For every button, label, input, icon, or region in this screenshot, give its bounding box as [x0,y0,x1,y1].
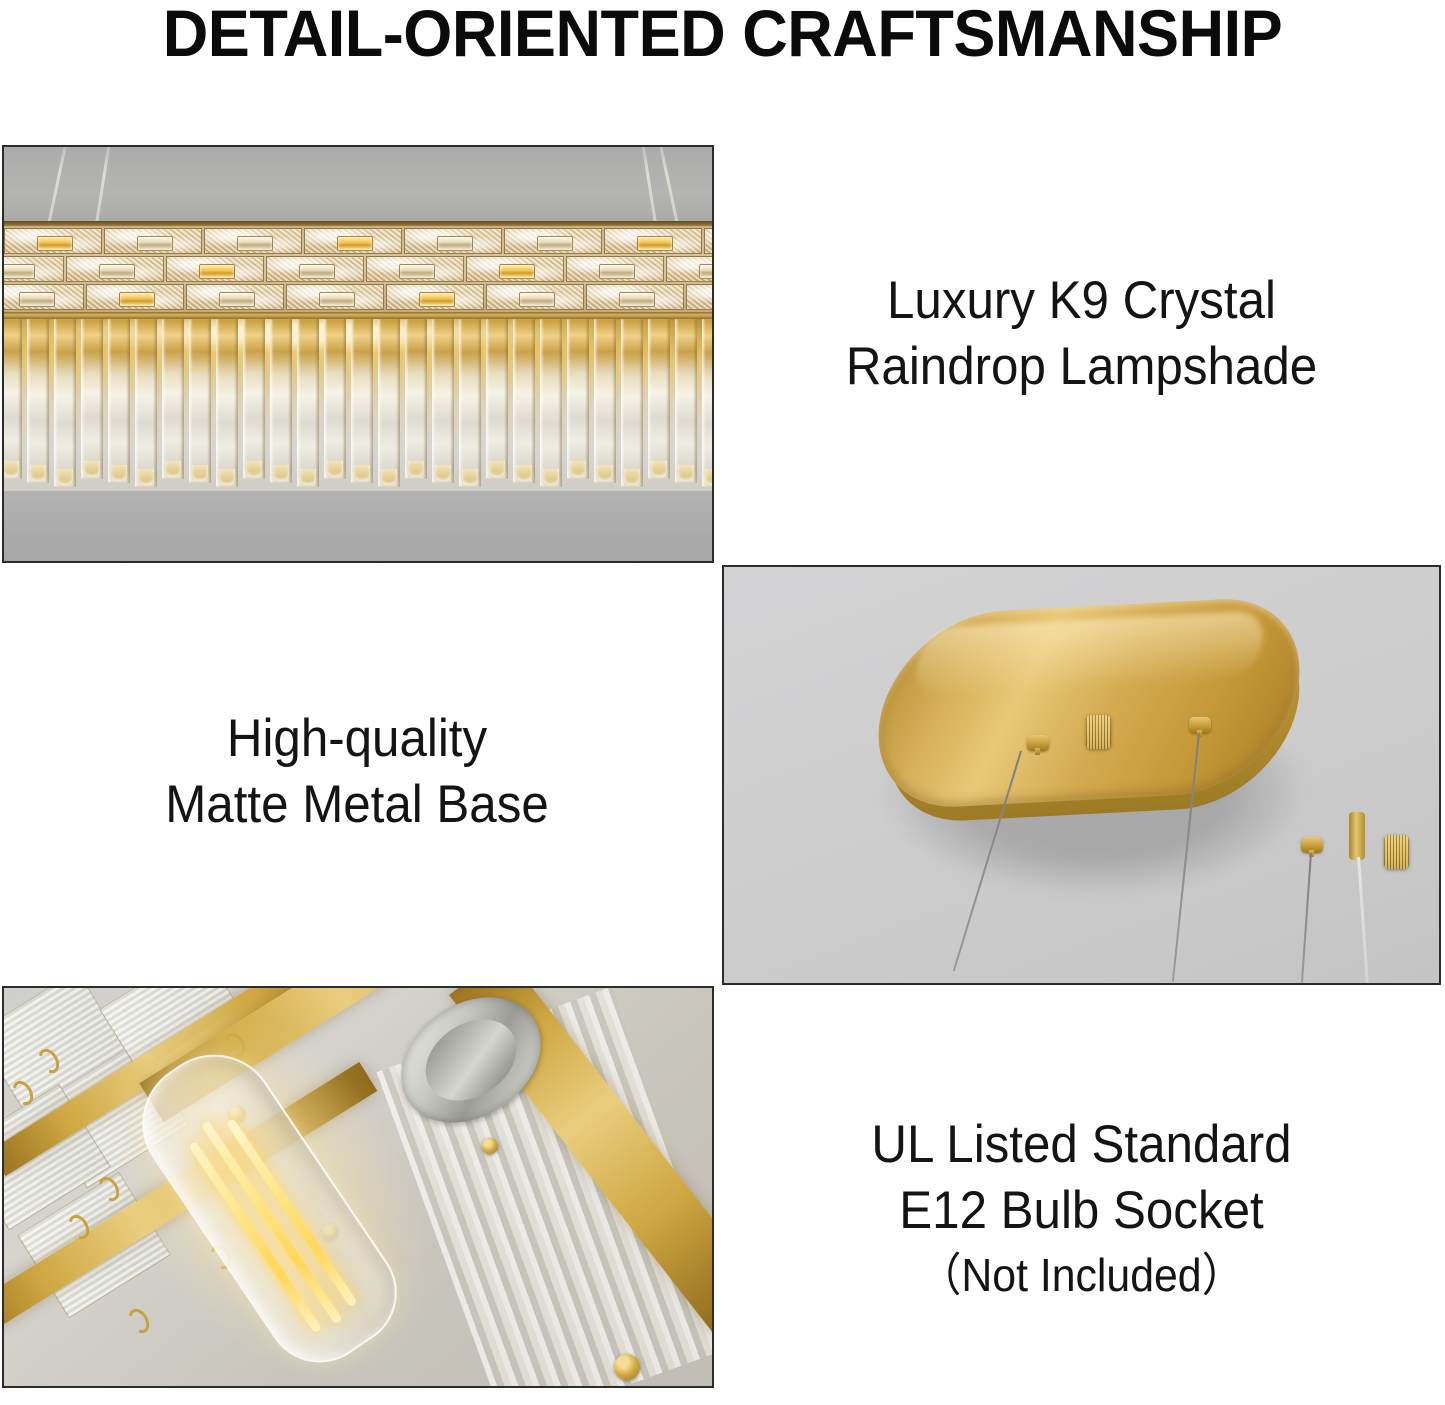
crystal-raindrop-rod [189,319,211,483]
crystal-brick [86,284,184,310]
crystal-brick [466,256,564,282]
crystal-brick-row [4,255,712,283]
caption-line: E12 Bulb Socket [747,1178,1416,1244]
crystal-raindrop-rod [702,319,714,487]
crystal-raindrop-rod [378,319,400,487]
crystal-brick [266,256,364,282]
crystal-raindrop-rod [108,319,130,483]
mounting-screw [614,1354,640,1380]
crystal-raindrop-rod [27,319,49,483]
crystal-brick [666,256,714,282]
crystal-raindrop-rod [594,319,616,483]
gold-canopy-photo [722,565,1441,985]
crystal-raindrop-rod [270,319,292,483]
crystal-raindrop-rod [81,319,103,479]
crystal-brick [2,256,64,282]
caption-metal-base: High-quality Matte Metal Base [25,706,689,838]
crystal-brick [404,228,502,254]
crystal-gem [699,264,714,279]
bulb-socket-photo [2,986,714,1388]
crystal-brick [704,228,714,254]
crystal-gem [137,236,173,251]
crystal-brick-row [4,283,712,311]
crystal-brick [286,284,384,310]
knurled-nut [1086,715,1111,749]
caption-note: （Not Included） [747,1244,1416,1306]
caption-crystal-lampshade: Luxury K9 Crystal Raindrop Lampshade [747,268,1416,400]
crystal-raindrop-rod [540,319,562,487]
crystal-raindrop-rod [459,319,481,487]
crystal-gem [419,292,455,307]
crystal-gem [319,292,355,307]
crystal-raindrop-rod [675,319,697,483]
crystal-gem [437,236,473,251]
crystal-brick [204,228,302,254]
crystal-gem [237,236,273,251]
cable-fitting [1027,735,1049,751]
crystal-raindrop-rod [324,319,346,479]
crystal-brick [504,228,602,254]
crystal-brick [686,284,714,310]
crystal-raindrop-rod [135,319,157,487]
center-post [1349,812,1365,860]
mounting-screw [482,1138,498,1154]
caption-line: Luxury K9 Crystal [747,268,1416,334]
crystal-raindrop-rod [486,319,508,479]
caption-bulb-socket: UL Listed Standard E12 Bulb Socket （Not … [747,1112,1416,1306]
crystal-brick-row [4,227,712,255]
crystal-brick [486,284,584,310]
caption-line: Raindrop Lampshade [747,334,1416,400]
crystal-gem [519,292,555,307]
crystal-brick [166,256,264,282]
crystal-gem [19,292,55,307]
caption-line: High-quality [25,706,689,772]
caption-line: UL Listed Standard [747,1112,1416,1178]
crystal-brick [186,284,284,310]
crystal-raindrop-rod [162,319,184,479]
knurled-nut [1384,835,1409,869]
crystal-gem [219,292,255,307]
crystal-raindrop-rod [567,319,589,479]
crystal-brick-band [4,226,712,312]
crystal-brick [366,256,464,282]
crystal-brick [386,284,484,310]
ceiling-surface [4,147,712,223]
crystal-raindrop-rod [2,319,22,479]
crystal-gem [119,292,155,307]
crystal-brick [4,228,102,254]
crystal-raindrop-rod [513,319,535,483]
crystal-gem [199,264,235,279]
page-title: DETAIL-ORIENTED CRAFTSMANSHIP [33,0,1413,70]
crystal-brick [604,228,702,254]
crystal-gem [399,264,435,279]
crystal-brick [104,228,202,254]
crystal-light-bar-photo [2,145,714,563]
gold-frame-rail [4,312,712,319]
crystal-raindrop-rod [432,319,454,483]
crystal-brick [566,256,664,282]
cable-fitting [1301,837,1323,853]
caption-line: Matte Metal Base [25,772,689,838]
crystal-gem [2,264,35,279]
crystal-gem [619,292,655,307]
crystal-gem [299,264,335,279]
crystal-gem [537,236,573,251]
crystal-gem [337,236,373,251]
cable-fitting [1189,717,1211,733]
crystal-brick [586,284,684,310]
background-floor [4,491,712,563]
crystal-raindrop-rod [297,319,319,487]
crystal-raindrop-rod [648,319,670,479]
crystal-gem [37,236,73,251]
crystal-brick [304,228,402,254]
crystal-brick [66,256,164,282]
crystal-gem [637,236,673,251]
crystal-raindrop-rod [351,319,373,483]
crystal-gem [599,264,635,279]
crystal-raindrop-rod [243,319,265,479]
crystal-brick [2,284,84,310]
crystal-raindrop-rod [54,319,76,487]
crystal-raindrop-rod [216,319,238,487]
crystal-raindrop-rods [4,319,712,491]
crystal-raindrop-rod [405,319,427,479]
crystal-raindrop-rod [621,319,643,487]
crystal-gem [499,264,535,279]
crystal-gem [99,264,135,279]
